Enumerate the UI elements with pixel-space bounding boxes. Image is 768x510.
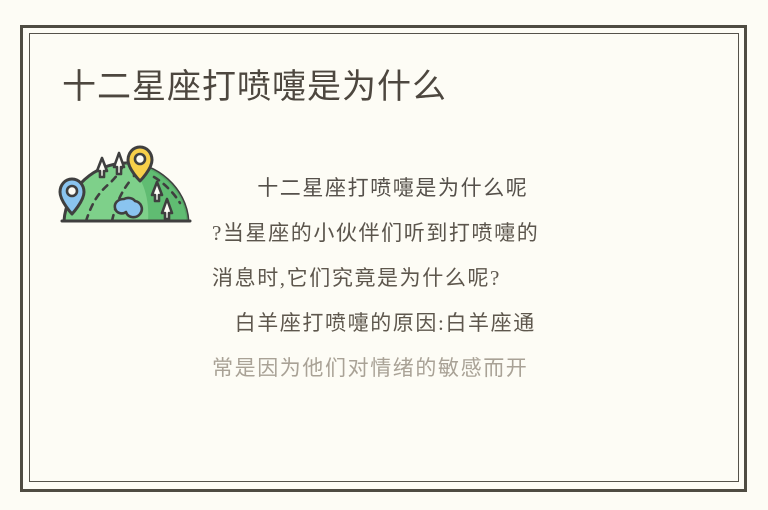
page-root: 十二星座打喷嚏是为什么 — [0, 0, 768, 510]
page-title: 十二星座打喷嚏是为什么 — [62, 64, 447, 110]
map-hill-illustration — [52, 141, 200, 227]
article-body: 十二星座打喷嚏是为什么呢 ?当星座的小伙伴们听到打喷嚏的 消息时,它们究竟是为什… — [212, 166, 652, 391]
article-paragraph-1: 十二星座打喷嚏是为什么呢 — [212, 166, 652, 211]
article-paragraph-4: 白羊座打喷嚏的原因:白羊座通 — [212, 301, 652, 346]
article-paragraph-3: 消息时,它们究竟是为什么呢? — [212, 256, 652, 301]
article-paragraph-5: 常是因为他们对情绪的敏感而开 — [212, 346, 652, 391]
article-paragraph-2: ?当星座的小伙伴们听到打喷嚏的 — [212, 211, 652, 256]
